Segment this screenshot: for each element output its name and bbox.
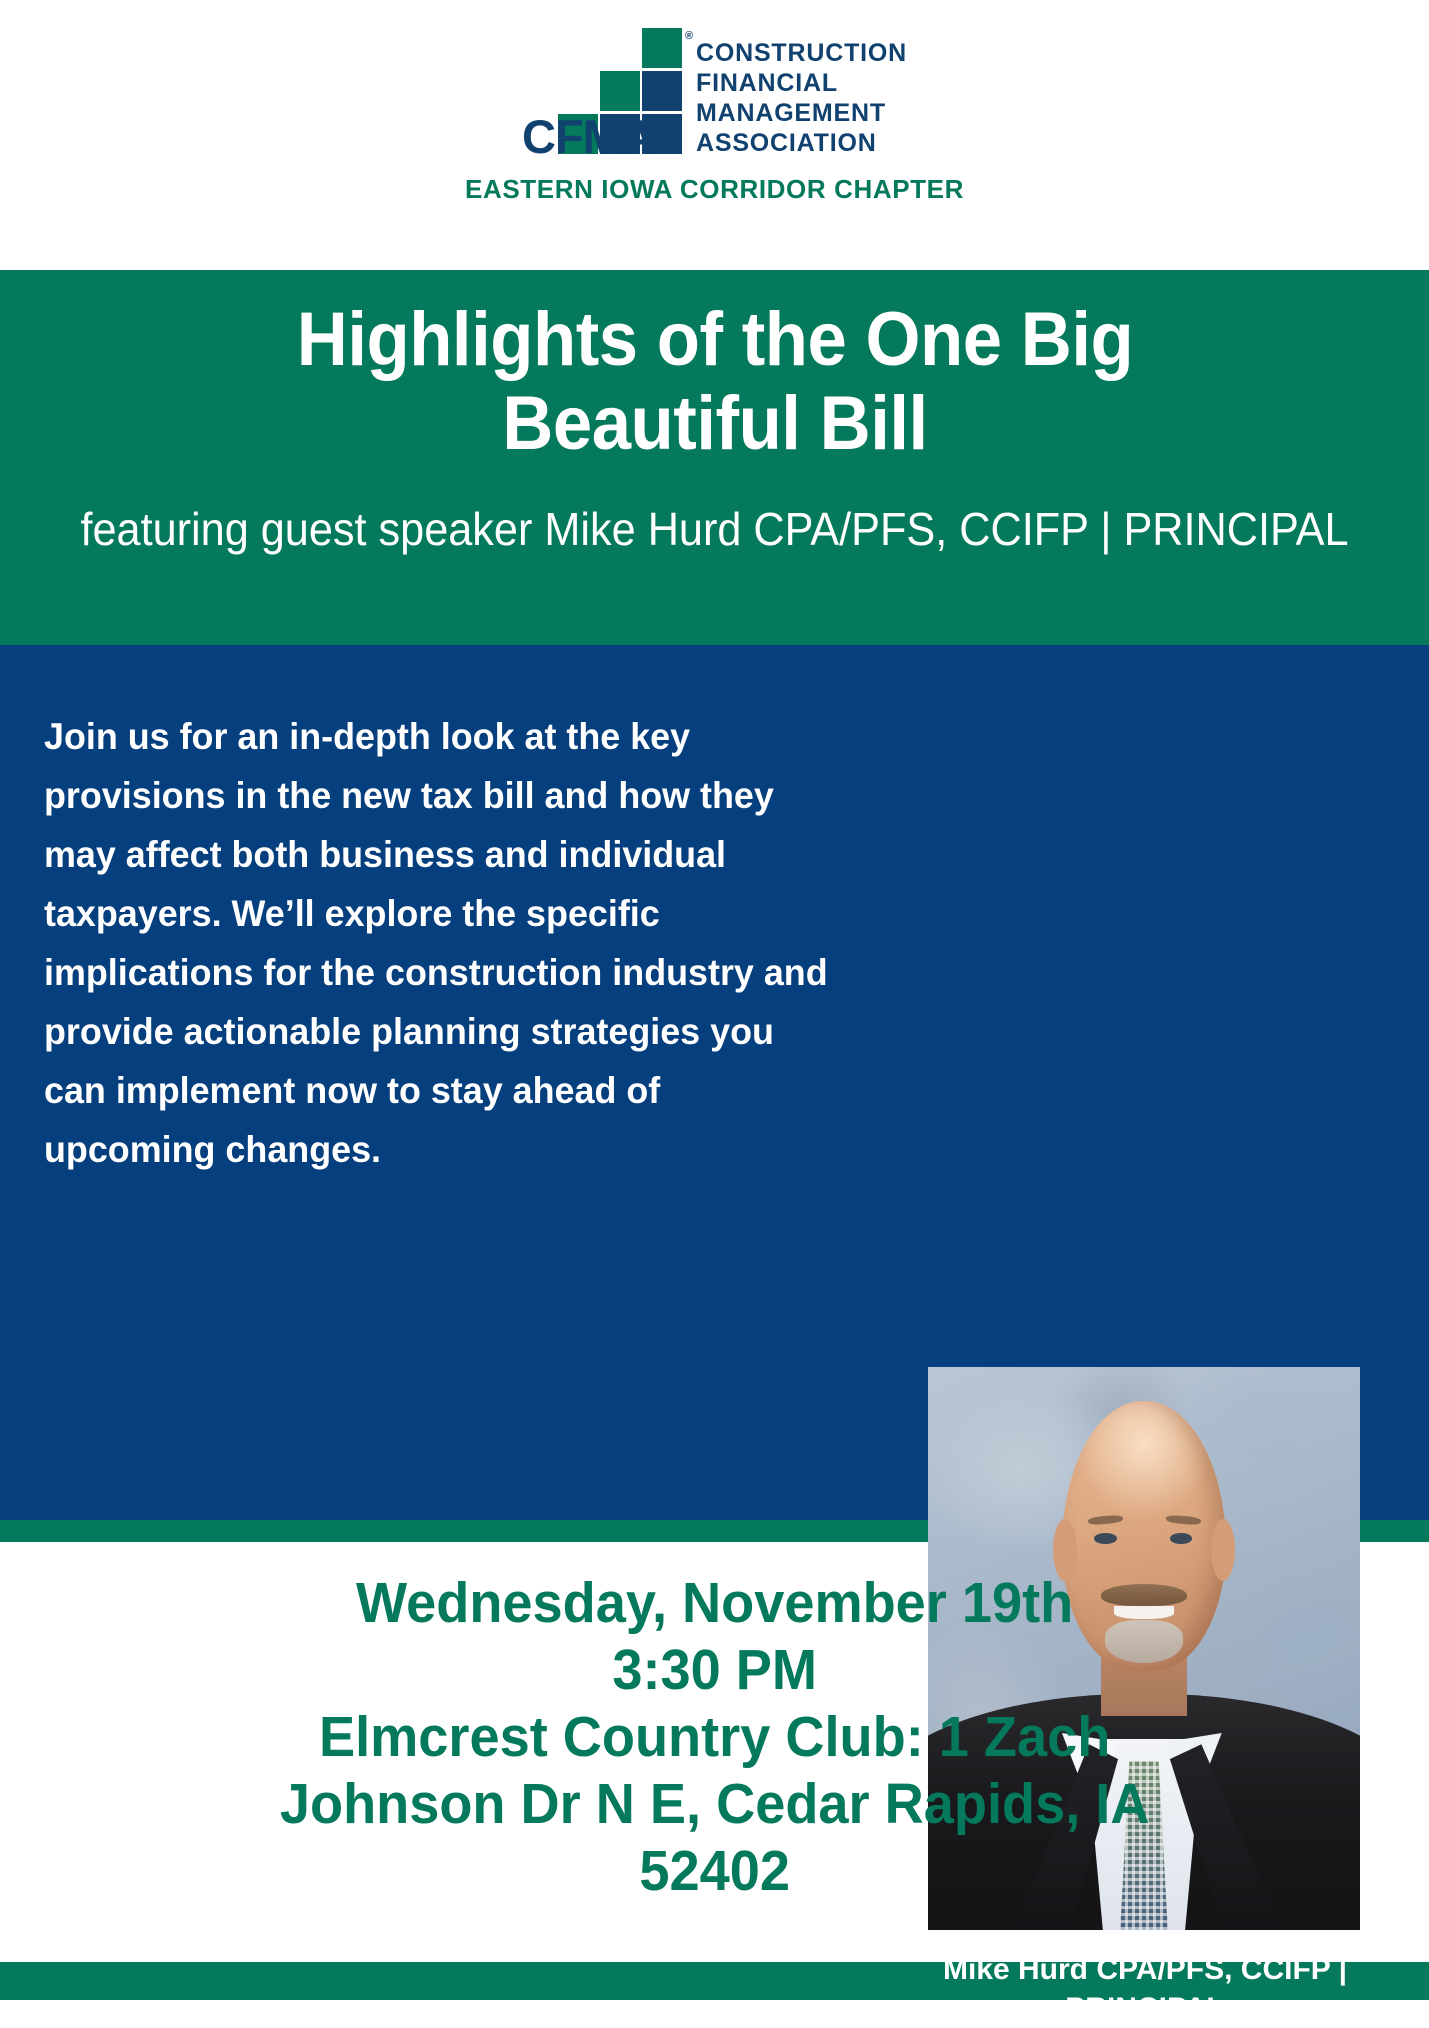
page-title: Highlights of the One Big Beautiful Bill — [184, 298, 1244, 466]
logo-wordmark: CONSTRUCTION FINANCIAL MANAGEMENT ASSOCI… — [696, 38, 907, 160]
event-description: Join us for an in-depth look at the key … — [44, 707, 849, 1520]
event-time: 3:30 PM — [280, 1637, 1150, 1704]
photo-eye-left — [1094, 1533, 1116, 1544]
event-venue-zip: 52402 — [280, 1838, 1150, 1905]
title-band: Highlights of the One Big Beautiful Bill… — [0, 270, 1429, 645]
registered-trademark-icon: ® — [685, 30, 693, 42]
event-venue-line-2: Johnson Dr N E, Cedar Rapids, IA — [280, 1771, 1150, 1838]
logo-block-blue-1 — [642, 71, 682, 111]
logo-block-green-1 — [642, 28, 682, 68]
speaker-caption: Mike Hurd CPA/PFS, CCIFP | PRINCIPAL — [900, 1950, 1390, 2028]
cfma-logo: ® CFMA CONSTRUCTION FINANCIAL MANAGEMENT… — [522, 28, 907, 160]
logo-word-management: MANAGEMENT — [696, 98, 907, 128]
chapter-name: EASTERN IOWA CORRIDOR CHAPTER — [465, 174, 964, 205]
event-date: Wednesday, November 19th — [280, 1570, 1150, 1637]
description-band: Join us for an in-depth look at the key … — [0, 645, 1429, 1520]
flyer-header: ® CFMA CONSTRUCTION FINANCIAL MANAGEMENT… — [0, 0, 1429, 270]
event-venue-line-1: Elmcrest Country Club: 1 Zach — [280, 1704, 1150, 1771]
cfma-logo-mark: ® CFMA — [522, 28, 682, 160]
logo-block-green-2 — [600, 71, 640, 111]
event-flyer: ® CFMA CONSTRUCTION FINANCIAL MANAGEMENT… — [0, 0, 1429, 2000]
logo-word-financial: FINANCIAL — [696, 68, 907, 98]
logo-word-association: ASSOCIATION — [696, 128, 907, 158]
photo-ear-right — [1211, 1519, 1235, 1581]
logo-word-construction: CONSTRUCTION — [696, 38, 907, 68]
photo-eye-right — [1170, 1533, 1192, 1544]
logo-acronym: CFMA — [522, 114, 654, 160]
event-subtitle: featuring guest speaker Mike Hurd CPA/PF… — [80, 502, 1348, 556]
event-details: Wednesday, November 19th 3:30 PM Elmcres… — [280, 1570, 1150, 1905]
